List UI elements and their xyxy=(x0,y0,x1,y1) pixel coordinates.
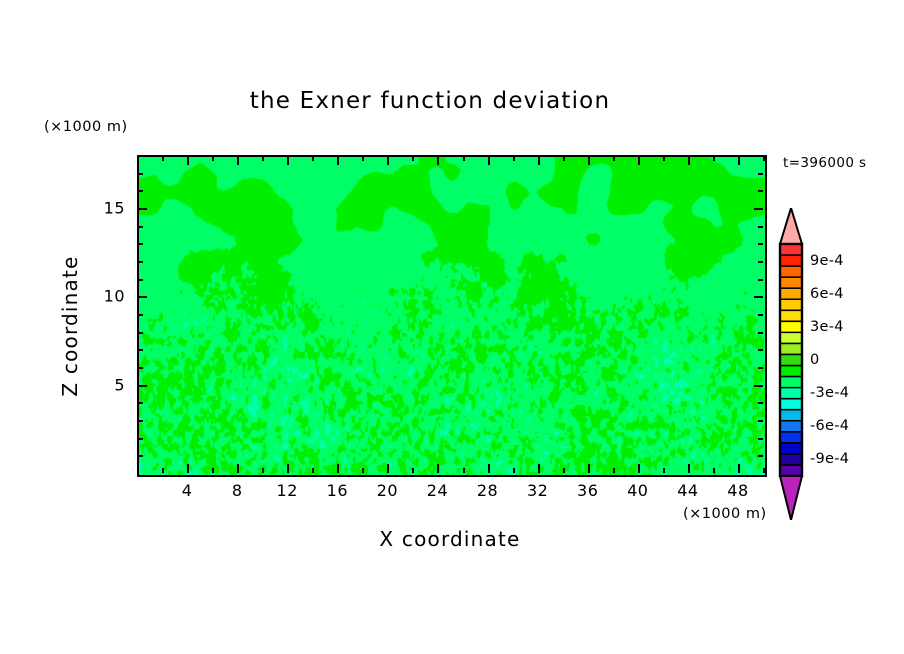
y-minor-tick-right xyxy=(758,190,763,192)
y-tick-label: 10 xyxy=(85,287,125,306)
y-minor-tick-right xyxy=(758,349,763,351)
colorbar-band xyxy=(780,410,802,422)
plot-area xyxy=(137,155,767,477)
x-tick-label: 8 xyxy=(232,481,243,500)
figure-root: the Exner function deviation (×1000 m) (… xyxy=(0,0,904,654)
y-minor-tick xyxy=(138,279,143,281)
y-major-tick-right xyxy=(754,208,763,210)
y-minor-tick xyxy=(138,190,143,192)
y-tick-label: 15 xyxy=(85,199,125,218)
x-major-tick xyxy=(738,464,740,473)
y-minor-tick-right xyxy=(758,226,763,228)
x-major-tick-top xyxy=(187,156,189,165)
x-tick-label: 4 xyxy=(182,481,193,500)
x-tick-label: 28 xyxy=(477,481,498,500)
x-minor-tick xyxy=(713,468,715,473)
x-tick-label: 32 xyxy=(527,481,548,500)
x-minor-tick xyxy=(412,468,414,473)
colorbar-band xyxy=(780,266,802,278)
page-title: the Exner function deviation xyxy=(0,88,860,114)
x-tick-label: 40 xyxy=(627,481,648,500)
colorbar-band xyxy=(780,377,802,389)
x-minor-tick xyxy=(513,468,515,473)
y-major-tick-right xyxy=(754,296,763,298)
x-minor-tick-top xyxy=(362,156,364,161)
y-minor-tick xyxy=(138,332,143,334)
colorbar-tick-label: -3e-4 xyxy=(810,385,849,401)
colorbar-band xyxy=(780,388,802,400)
x-minor-tick-top xyxy=(212,156,214,161)
x-major-tick xyxy=(287,464,289,473)
x-major-tick xyxy=(437,464,439,473)
x-minor-tick-top xyxy=(663,156,665,161)
colorbar-svg xyxy=(778,208,804,520)
colorbar-band xyxy=(780,354,802,366)
colorbar-band xyxy=(780,244,802,256)
x-minor-tick-top xyxy=(162,156,164,161)
x-minor-tick-top xyxy=(613,156,615,161)
x-major-tick-top xyxy=(237,156,239,165)
x-major-tick-top xyxy=(437,156,439,165)
y-minor-tick xyxy=(138,243,143,245)
x-minor-tick-top xyxy=(513,156,515,161)
x-tick-label: 16 xyxy=(327,481,348,500)
y-major-tick xyxy=(138,208,147,210)
contour-field-canvas xyxy=(139,157,765,475)
x-tick-label: 24 xyxy=(427,481,448,500)
x-major-tick xyxy=(387,464,389,473)
x-major-tick xyxy=(337,464,339,473)
y-minor-tick xyxy=(138,420,143,422)
x-major-tick-top xyxy=(337,156,339,165)
x-minor-tick xyxy=(763,468,765,473)
x-major-tick-top xyxy=(538,156,540,165)
y-minor-tick-right xyxy=(758,314,763,316)
colorbar-tick-label: 6e-4 xyxy=(810,286,844,302)
x-major-tick xyxy=(638,464,640,473)
x-major-tick xyxy=(187,464,189,473)
x-major-tick-top xyxy=(287,156,289,165)
colorbar-tick-label: 0 xyxy=(810,352,820,368)
y-major-tick-right xyxy=(754,385,763,387)
y-axis-units-label: (×1000 m) xyxy=(44,119,128,135)
y-major-tick xyxy=(138,385,147,387)
y-minor-tick xyxy=(138,438,143,440)
y-axis-title: Z coordinate xyxy=(58,206,82,446)
colorbar-band xyxy=(780,310,802,322)
x-minor-tick-top xyxy=(713,156,715,161)
y-minor-tick-right xyxy=(758,173,763,175)
x-axis-units-label: (×1000 m) xyxy=(683,506,767,522)
colorbar-band xyxy=(780,399,802,411)
colorbar-under-arrow xyxy=(780,476,802,520)
x-minor-tick xyxy=(212,468,214,473)
y-minor-tick-right xyxy=(758,455,763,457)
y-minor-tick xyxy=(138,367,143,369)
x-major-tick xyxy=(488,464,490,473)
colorbar-band xyxy=(780,332,802,344)
colorbar-band xyxy=(780,366,802,378)
colorbar-over-arrow xyxy=(780,208,802,244)
y-minor-tick xyxy=(138,402,143,404)
x-tick-label: 44 xyxy=(677,481,698,500)
y-minor-tick-right xyxy=(758,438,763,440)
y-minor-tick-right xyxy=(758,420,763,422)
x-minor-tick xyxy=(613,468,615,473)
colorbar-band xyxy=(780,421,802,433)
x-minor-tick xyxy=(162,468,164,473)
x-minor-tick xyxy=(312,468,314,473)
x-tick-label: 12 xyxy=(277,481,298,500)
x-major-tick-top xyxy=(488,156,490,165)
y-minor-tick-right xyxy=(758,402,763,404)
timestamp-annotation: t=396000 s xyxy=(783,155,866,171)
y-minor-tick xyxy=(138,314,143,316)
y-minor-tick xyxy=(138,261,143,263)
colorbar-band xyxy=(780,443,802,455)
y-minor-tick xyxy=(138,349,143,351)
y-minor-tick-right xyxy=(758,332,763,334)
colorbar-tick-label: -6e-4 xyxy=(810,418,849,434)
colorbar-band xyxy=(780,299,802,311)
colorbar-band xyxy=(780,321,802,333)
x-axis-title: X coordinate xyxy=(137,527,763,551)
y-major-tick xyxy=(138,296,147,298)
x-major-tick xyxy=(237,464,239,473)
x-major-tick-top xyxy=(738,156,740,165)
x-minor-tick-top xyxy=(262,156,264,161)
x-tick-label: 36 xyxy=(577,481,598,500)
x-minor-tick-top xyxy=(763,156,765,161)
colorbar-band xyxy=(780,277,802,289)
x-minor-tick-top xyxy=(563,156,565,161)
x-major-tick-top xyxy=(688,156,690,165)
x-minor-tick xyxy=(262,468,264,473)
colorbar-band xyxy=(780,288,802,300)
x-major-tick-top xyxy=(638,156,640,165)
colorbar-tick-label: -9e-4 xyxy=(810,451,849,467)
x-major-tick xyxy=(538,464,540,473)
x-minor-tick xyxy=(463,468,465,473)
x-minor-tick xyxy=(663,468,665,473)
y-minor-tick xyxy=(138,455,143,457)
x-major-tick xyxy=(588,464,590,473)
y-minor-tick-right xyxy=(758,243,763,245)
x-major-tick-top xyxy=(588,156,590,165)
y-minor-tick-right xyxy=(758,261,763,263)
y-minor-tick-right xyxy=(758,279,763,281)
x-tick-label: 20 xyxy=(377,481,398,500)
colorbar xyxy=(778,208,804,520)
colorbar-tick-label: 9e-4 xyxy=(810,253,844,269)
x-tick-label: 48 xyxy=(727,481,748,500)
colorbar-band xyxy=(780,255,802,267)
y-minor-tick xyxy=(138,226,143,228)
x-minor-tick-top xyxy=(412,156,414,161)
y-minor-tick xyxy=(138,173,143,175)
colorbar-band xyxy=(780,343,802,355)
x-minor-tick-top xyxy=(312,156,314,161)
x-major-tick-top xyxy=(387,156,389,165)
y-minor-tick-right xyxy=(758,367,763,369)
x-minor-tick xyxy=(362,468,364,473)
x-minor-tick-top xyxy=(463,156,465,161)
x-minor-tick xyxy=(563,468,565,473)
x-major-tick xyxy=(688,464,690,473)
colorbar-band xyxy=(780,454,802,466)
colorbar-tick-label: 3e-4 xyxy=(810,319,844,335)
colorbar-band xyxy=(780,432,802,444)
y-tick-label: 5 xyxy=(85,375,125,394)
